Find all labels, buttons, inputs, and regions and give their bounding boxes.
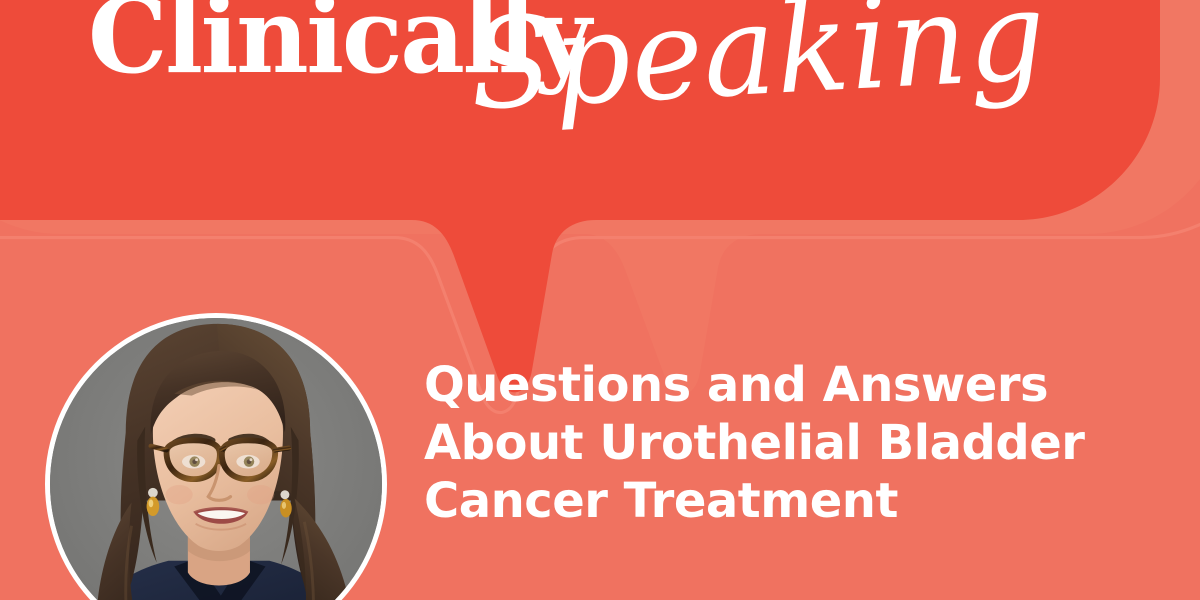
avatar-photo xyxy=(50,318,382,600)
avatar xyxy=(45,313,387,600)
page-title: Questions and Answers About Urothelial B… xyxy=(424,356,1164,530)
page-title-line-3: Cancer Treatment xyxy=(424,472,1164,530)
brand-word-speaking: Speaking xyxy=(467,0,1049,127)
page-title-line-1: Questions and Answers xyxy=(424,356,1164,414)
avatar-image-clip xyxy=(50,318,382,600)
page-title-line-2: About Urothelial Bladder xyxy=(424,414,1164,472)
clinically-speaking-title-card: Clinically Speaking xyxy=(0,0,1200,600)
